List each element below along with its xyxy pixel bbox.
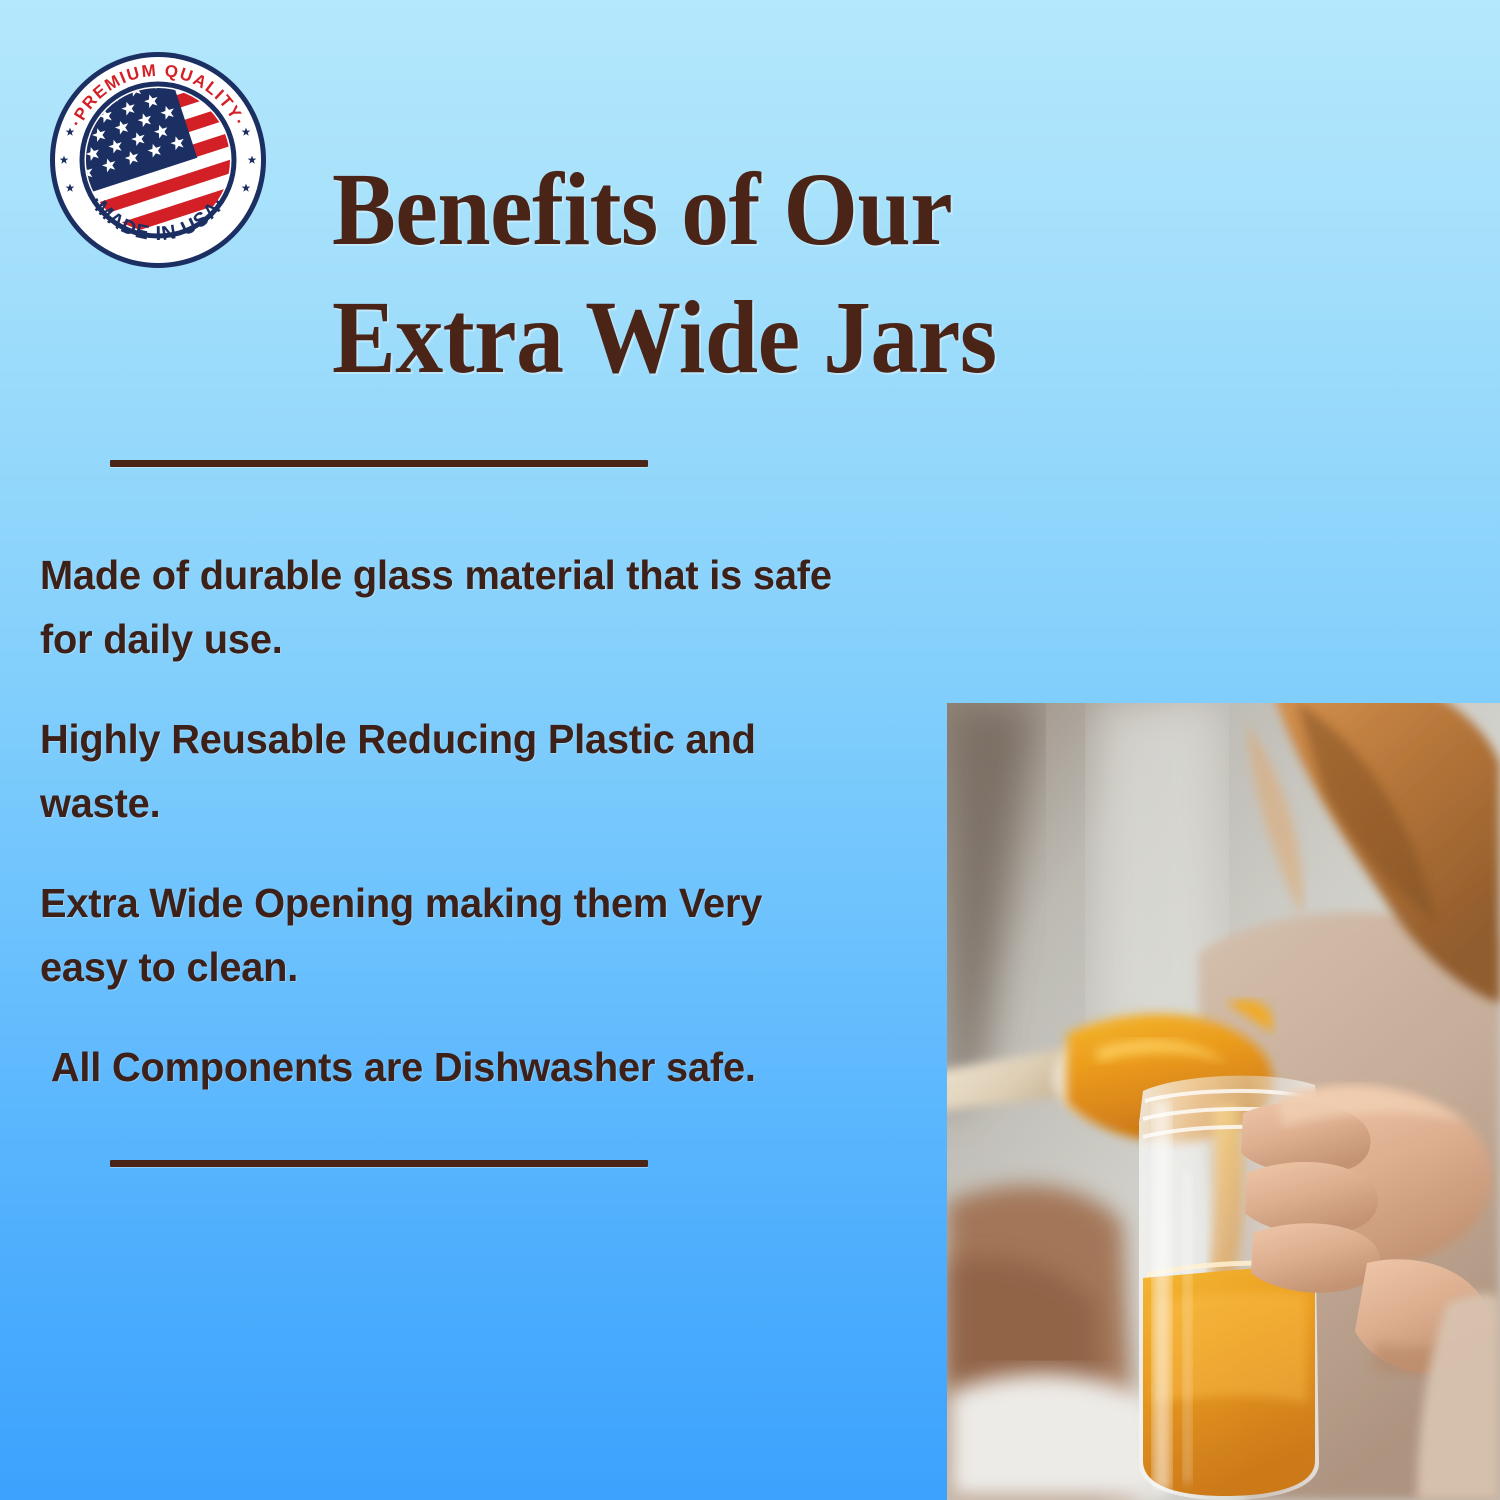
benefit-item: Highly Reusable Reducing Plastic and was…: [40, 707, 913, 835]
benefit-item: Extra Wide Opening making them Very easy…: [40, 871, 913, 999]
divider-bottom: [110, 1160, 648, 1167]
benefit-item: Made of durable glass material that is s…: [40, 543, 913, 671]
product-lifestyle-photo: [947, 703, 1500, 1500]
benefits-list: Made of durable glass material that is s…: [40, 543, 913, 1099]
title-line-1: Benefits of Our: [332, 146, 1289, 274]
infographic-root: ·PREMIUM QUALITY· ·MADE IN USA· Benefits…: [0, 0, 1500, 1500]
benefit-item: All Components are Dishwasher safe.: [40, 1035, 913, 1099]
page-title: Benefits of Our Extra Wide Jars: [332, 146, 1289, 402]
made-in-usa-badge: ·PREMIUM QUALITY· ·MADE IN USA·: [46, 48, 270, 272]
title-line-2: Extra Wide Jars: [332, 274, 1289, 402]
divider-top: [110, 460, 648, 467]
